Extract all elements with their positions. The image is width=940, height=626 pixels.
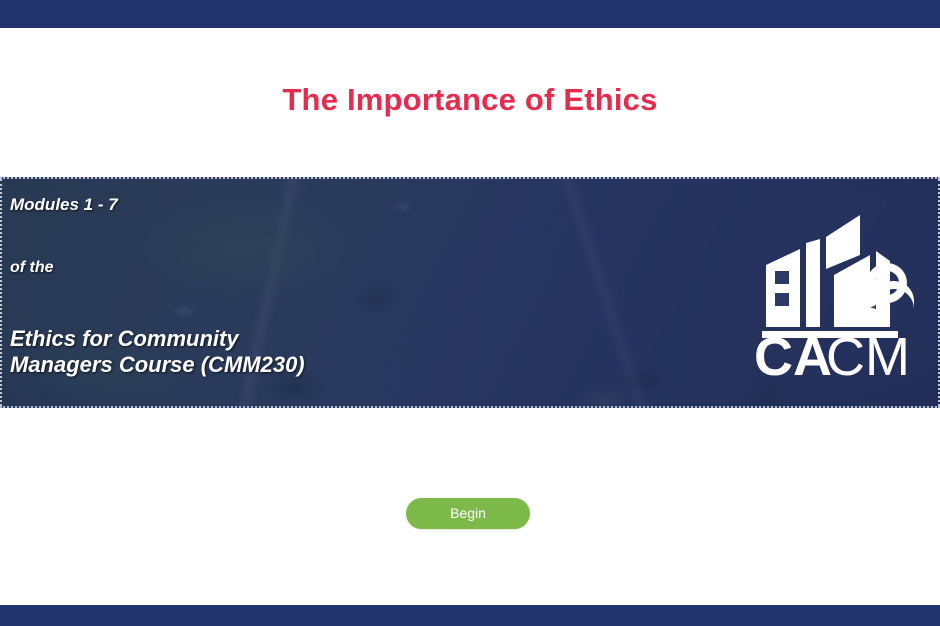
banner-of-the-line: of the bbox=[10, 259, 305, 278]
hero-left-dotted-edge bbox=[0, 179, 3, 406]
cacm-wordmark: CA CM bbox=[754, 327, 910, 381]
banner-course-line-2: Managers Course (CMM230) bbox=[10, 352, 305, 378]
bottom-navy-band bbox=[0, 605, 940, 626]
cacm-wordmark-light: CM bbox=[826, 327, 910, 381]
cacm-wordmark-bold: CA bbox=[754, 327, 832, 381]
hero-banner: Modules 1 - 7 of the Ethics for Communit… bbox=[0, 177, 940, 408]
cacm-logo: CA CM bbox=[748, 209, 928, 381]
page-title: The Importance of Ethics bbox=[0, 82, 940, 118]
banner-modules-line: Modules 1 - 7 bbox=[10, 195, 305, 215]
top-navy-band bbox=[0, 0, 940, 28]
hero-text-block: Modules 1 - 7 of the Ethics for Communit… bbox=[10, 195, 305, 378]
begin-button[interactable]: Begin bbox=[406, 498, 530, 529]
banner-course-line-1: Ethics for Community bbox=[10, 326, 305, 352]
